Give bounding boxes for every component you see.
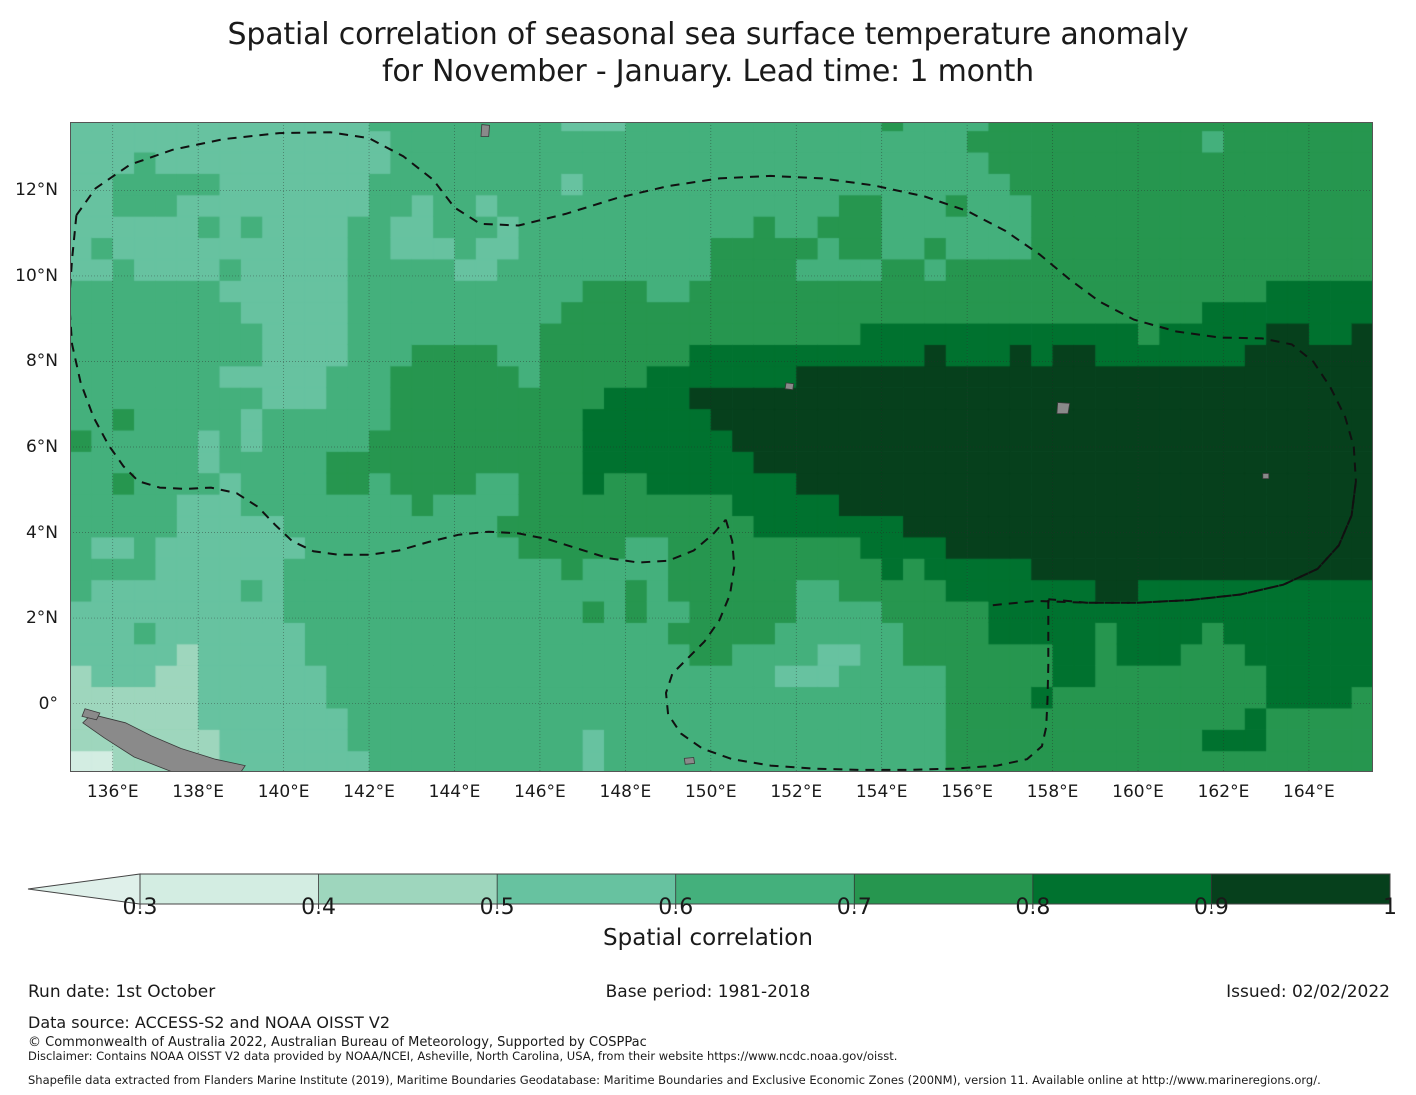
colorbar-tick-label: 0.5 bbox=[480, 895, 515, 920]
x-axis-tick: 148°E bbox=[600, 782, 652, 802]
x-axis-tick: 156°E bbox=[941, 782, 993, 802]
x-axis-tick: 150°E bbox=[685, 782, 737, 802]
y-axis-tick: 2°N bbox=[26, 608, 58, 628]
x-axis-tick: 138°E bbox=[172, 782, 224, 802]
colorbar-tick-label: 1 bbox=[1383, 895, 1397, 920]
colorbar-swatch bbox=[1033, 874, 1212, 904]
eez-boundary-dashed bbox=[70, 132, 1356, 770]
x-axis-tick: 144°E bbox=[429, 782, 481, 802]
x-axis-tick: 136°E bbox=[87, 782, 139, 802]
colorbar-swatch bbox=[854, 874, 1033, 904]
x-axis-tick: 160°E bbox=[1112, 782, 1164, 802]
colorbar-swatch bbox=[676, 874, 855, 904]
landmass-shapes bbox=[82, 125, 1269, 772]
map-plot-area[interactable] bbox=[70, 122, 1373, 772]
colorbar-tick-label: 0.6 bbox=[658, 895, 693, 920]
x-axis-tick: 164°E bbox=[1283, 782, 1335, 802]
x-axis-tick: 142°E bbox=[343, 782, 395, 802]
gridlines bbox=[70, 122, 1373, 772]
y-axis-tick: 12°N bbox=[15, 180, 58, 200]
colorbar-tick-label: 0.8 bbox=[1015, 895, 1050, 920]
x-axis-tick: 146°E bbox=[514, 782, 566, 802]
metadata-row: Run date: 1st October Base period: 1981-… bbox=[0, 982, 1416, 1006]
page-title: Spatial correlation of seasonal sea surf… bbox=[0, 16, 1416, 90]
y-axis-tick: 0° bbox=[39, 694, 58, 714]
x-axis-tick: 162°E bbox=[1198, 782, 1250, 802]
issued-date: Issued: 02/02/2022 bbox=[1226, 982, 1390, 1002]
y-axis-tick: 8°N bbox=[26, 351, 58, 371]
x-axis-tick: 152°E bbox=[770, 782, 822, 802]
colorbar-swatch bbox=[140, 874, 319, 904]
colorbar-label: Spatial correlation bbox=[0, 925, 1416, 951]
y-axis-tick: 10°N bbox=[15, 266, 58, 286]
map-overlay-layer bbox=[70, 122, 1373, 772]
colorbar-tick-label: 0.9 bbox=[1194, 895, 1229, 920]
shapefile-attribution: Shapefile data extracted from Flanders M… bbox=[28, 1073, 1321, 1087]
data-source: Data source: ACCESS-S2 and NOAA OISST V2 bbox=[28, 1013, 390, 1032]
title-line-2: for November - January. Lead time: 1 mon… bbox=[0, 53, 1416, 90]
y-axis-tick: 6°N bbox=[26, 437, 58, 457]
colorbar-tick-label: 0.7 bbox=[837, 895, 872, 920]
base-period: Base period: 1981-2018 bbox=[0, 982, 1416, 1002]
disclaimer-text: Disclaimer: Contains NOAA OISST V2 data … bbox=[28, 1049, 897, 1063]
colorbar-tick-label: 0.3 bbox=[123, 895, 158, 920]
colorbar-swatch bbox=[1211, 874, 1390, 904]
title-line-1: Spatial correlation of seasonal sea surf… bbox=[0, 16, 1416, 53]
y-axis-tick: 4°N bbox=[26, 523, 58, 543]
x-axis-tick: 154°E bbox=[856, 782, 908, 802]
copyright-notice: © Commonwealth of Australia 2022, Austra… bbox=[28, 1035, 647, 1050]
x-axis-tick: 158°E bbox=[1027, 782, 1079, 802]
colorbar-tick-label: 0.4 bbox=[301, 895, 336, 920]
colorbar-swatch bbox=[497, 874, 676, 904]
x-axis-tick: 140°E bbox=[258, 782, 310, 802]
colorbar-swatch bbox=[319, 874, 498, 904]
